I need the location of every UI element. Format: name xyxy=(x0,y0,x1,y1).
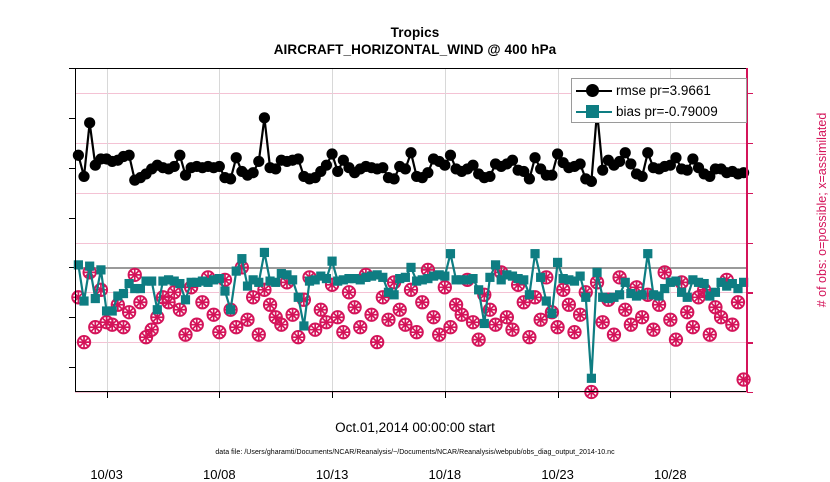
obs-marker xyxy=(382,314,394,326)
rmse-point xyxy=(529,152,540,163)
rmse-point xyxy=(253,156,264,167)
obs-marker xyxy=(681,306,693,318)
bias-point xyxy=(581,293,590,302)
bias-point xyxy=(220,286,229,295)
bias-point xyxy=(226,305,235,314)
rmse-point xyxy=(84,117,95,128)
y-tick-right xyxy=(747,193,753,194)
x-tick xyxy=(558,392,559,398)
legend-item[interactable]: bias pr=-0.79009 xyxy=(572,101,748,122)
x-tick-label: 10/28 xyxy=(635,467,705,482)
rmse-point xyxy=(293,153,304,164)
obs-marker xyxy=(647,323,659,335)
rmse-point xyxy=(214,161,225,172)
obs-marker xyxy=(704,328,716,340)
legend-label: bias pr=-0.79009 xyxy=(616,104,718,119)
obs-marker xyxy=(106,319,118,331)
obs-marker xyxy=(523,331,535,343)
bias-point xyxy=(378,273,387,282)
bias-point xyxy=(440,272,449,281)
bias-point xyxy=(621,278,630,287)
rmse-point xyxy=(225,173,236,184)
y-axis-left-label: rmse and bias (model - observation) xyxy=(0,0,9,60)
rmse-point xyxy=(637,171,648,182)
rmse-point xyxy=(625,158,636,169)
obs-marker xyxy=(292,331,304,343)
rmse-point xyxy=(78,171,89,182)
rmse-point xyxy=(546,170,557,181)
rmse-point xyxy=(231,152,242,163)
gridline-horizontal xyxy=(75,392,747,393)
obs-marker xyxy=(343,286,355,298)
obs-marker xyxy=(247,291,259,303)
legend-marker-square-icon xyxy=(572,101,616,122)
obs-marker xyxy=(207,309,219,321)
x-tick xyxy=(445,392,446,398)
obs-marker xyxy=(264,299,276,311)
x-tick xyxy=(219,392,220,398)
rmse-point xyxy=(445,150,456,161)
bias-point xyxy=(254,278,263,287)
bias-point xyxy=(592,268,601,277)
obs-marker xyxy=(286,309,298,321)
bias-point xyxy=(79,296,88,305)
rmse-point xyxy=(507,155,518,166)
rmse-point xyxy=(597,165,608,176)
bias-point xyxy=(553,258,562,267)
bias-point xyxy=(215,274,224,283)
obs-marker xyxy=(348,301,360,313)
obs-marker xyxy=(506,323,518,335)
rmse-point xyxy=(524,173,535,184)
legend-circle-icon xyxy=(586,84,599,97)
obs-marker xyxy=(726,319,738,331)
data-file-footer: data file: /Users/gharamti/Documents/NCA… xyxy=(0,449,830,456)
bias-point xyxy=(711,288,720,297)
obs-marker xyxy=(337,326,349,338)
obs-marker xyxy=(145,323,157,335)
obs-marker xyxy=(230,321,242,333)
rmse-point xyxy=(326,148,337,159)
bias-point xyxy=(547,309,556,318)
obs-marker xyxy=(585,386,597,398)
obs-marker xyxy=(574,309,586,321)
obs-marker xyxy=(399,319,411,331)
x-tick-label: 10/23 xyxy=(523,467,593,482)
bias-point xyxy=(237,254,246,263)
obs-marker xyxy=(664,314,676,326)
obs-marker xyxy=(78,336,90,348)
chart-title-main: Tropics xyxy=(0,24,830,41)
bias-point xyxy=(401,273,410,282)
bias-point xyxy=(96,265,105,274)
obs-marker xyxy=(365,309,377,321)
rmse-point xyxy=(259,112,270,123)
x-tick xyxy=(332,392,333,398)
obs-marker xyxy=(596,316,608,328)
bias-point xyxy=(480,319,489,328)
y-tick-right xyxy=(747,243,753,244)
obs-marker xyxy=(737,373,749,385)
bias-point xyxy=(587,374,596,383)
obs-marker xyxy=(213,326,225,338)
obs-marker xyxy=(658,266,670,278)
bias-point xyxy=(91,294,100,303)
bias-point xyxy=(519,275,528,284)
bias-point xyxy=(638,290,647,299)
rmse-point xyxy=(332,166,343,177)
rmse-point xyxy=(575,158,586,169)
bias-point xyxy=(232,267,241,276)
bias-point xyxy=(446,249,455,258)
obs-marker xyxy=(191,319,203,331)
bias-point xyxy=(700,279,709,288)
obs-marker xyxy=(179,328,191,340)
obs-marker xyxy=(433,328,445,340)
bias-point xyxy=(299,321,308,330)
rmse-point xyxy=(174,150,185,161)
bias-point xyxy=(671,276,680,285)
obs-marker xyxy=(332,311,344,323)
obs-marker xyxy=(309,323,321,335)
obs-marker xyxy=(687,321,699,333)
legend-marker-circle-icon xyxy=(572,80,616,101)
bias-point xyxy=(485,273,494,282)
rmse-point xyxy=(124,150,135,161)
obs-marker xyxy=(670,333,682,345)
obs-marker xyxy=(275,319,287,331)
axis-frame-top xyxy=(75,68,747,69)
rmse-point xyxy=(405,147,416,158)
obs-marker xyxy=(489,319,501,331)
bias-point xyxy=(85,262,94,271)
rmse-point xyxy=(682,165,693,176)
obs-marker xyxy=(134,296,146,308)
chart-title-block: Tropics AIRCRAFT_HORIZONTAL_WIND @ 400 h… xyxy=(0,24,830,59)
bias-point xyxy=(576,272,585,281)
obs-marker xyxy=(253,328,265,340)
y-axis-right-label-text: # of obs: o=possible; x=assimilated xyxy=(815,60,829,360)
bias-point xyxy=(542,296,551,305)
rmse-point xyxy=(377,162,388,173)
obs-marker xyxy=(123,306,135,318)
axis-frame-bottom xyxy=(75,391,747,392)
y-tick-right xyxy=(747,342,753,343)
obs-marker xyxy=(608,328,620,340)
bias-point xyxy=(260,248,269,257)
obs-marker xyxy=(557,284,569,296)
bias-point xyxy=(683,293,692,302)
bias-point xyxy=(525,290,534,299)
obs-marker xyxy=(427,311,439,323)
rmse-point xyxy=(586,176,597,187)
obs-marker xyxy=(117,321,129,333)
bias-point xyxy=(153,305,162,314)
rmse-point xyxy=(484,171,495,182)
bias-point xyxy=(643,249,652,258)
bias-point xyxy=(288,275,297,284)
obs-marker xyxy=(563,299,575,311)
obs-marker xyxy=(715,311,727,323)
legend[interactable]: rmse pr=3.9661bias pr=-0.79009 xyxy=(571,78,747,123)
x-tick-label: 10/03 xyxy=(72,467,142,482)
bias-point xyxy=(119,289,128,298)
bias-point xyxy=(147,276,156,285)
obs-marker xyxy=(472,333,484,345)
bias-point xyxy=(474,285,483,294)
bias-point xyxy=(536,273,545,282)
obs-marker xyxy=(534,314,546,326)
obs-marker xyxy=(732,296,744,308)
obs-marker xyxy=(568,326,580,338)
obs-marker xyxy=(241,314,253,326)
bias-point xyxy=(108,306,117,315)
obs-marker xyxy=(354,321,366,333)
axis-frame-left xyxy=(75,68,76,392)
y-tick-right xyxy=(747,292,753,293)
bias-point xyxy=(327,257,336,266)
bias-point xyxy=(491,260,500,269)
obs-marker xyxy=(636,311,648,323)
rmse-point xyxy=(642,147,653,158)
bias-point xyxy=(615,290,624,299)
rmse-point xyxy=(321,160,332,171)
rmse-point xyxy=(248,167,259,178)
x-tick-label: 10/13 xyxy=(297,467,367,482)
legend-label: rmse pr=3.9661 xyxy=(616,83,711,98)
bias-point xyxy=(530,249,539,258)
x-tick xyxy=(670,392,671,398)
bias-point xyxy=(406,263,415,272)
rmse-point xyxy=(620,147,631,158)
legend-item[interactable]: rmse pr=3.9661 xyxy=(572,80,748,101)
rmse-point xyxy=(439,160,450,171)
obs-marker xyxy=(619,304,631,316)
y-axis-right-label: # of obs: o=possible; x=assimilated xyxy=(815,0,829,60)
rmse-point xyxy=(670,152,681,163)
rmse-point xyxy=(400,163,411,174)
obs-marker xyxy=(444,321,456,333)
bias-point xyxy=(294,293,303,302)
obs-marker xyxy=(467,316,479,328)
x-axis-label: Oct.01,2014 00:00:00 start xyxy=(0,420,830,435)
figure-canvas: Tropics AIRCRAFT_HORIZONTAL_WIND @ 400 h… xyxy=(0,0,830,470)
obs-marker xyxy=(196,296,208,308)
legend-square-icon xyxy=(586,105,599,118)
obs-marker xyxy=(501,311,513,323)
bias-point xyxy=(322,274,331,283)
bias-point xyxy=(271,278,280,287)
obs-marker xyxy=(625,319,637,331)
bias-point xyxy=(175,279,184,288)
x-tick xyxy=(107,392,108,398)
bias-point xyxy=(468,274,477,283)
obs-marker xyxy=(456,309,468,321)
rmse-point xyxy=(169,161,180,172)
rmse-point xyxy=(422,167,433,178)
bias-point xyxy=(181,295,190,304)
obs-marker xyxy=(439,281,451,293)
x-tick-label: 10/18 xyxy=(410,467,480,482)
y-tick-right xyxy=(747,392,753,393)
obs-marker xyxy=(315,304,327,316)
chart-title-sub: AIRCRAFT_HORIZONTAL_WIND @ 400 hPa xyxy=(0,41,830,59)
rmse-point xyxy=(388,173,399,184)
obs-marker xyxy=(174,304,186,316)
obs-marker xyxy=(416,296,428,308)
obs-marker xyxy=(371,336,383,348)
bias-point xyxy=(389,290,398,299)
y-tick-right xyxy=(747,143,753,144)
x-tick-label: 10/08 xyxy=(184,467,254,482)
obs-marker xyxy=(394,304,406,316)
obs-marker xyxy=(551,321,563,333)
obs-marker xyxy=(410,326,422,338)
